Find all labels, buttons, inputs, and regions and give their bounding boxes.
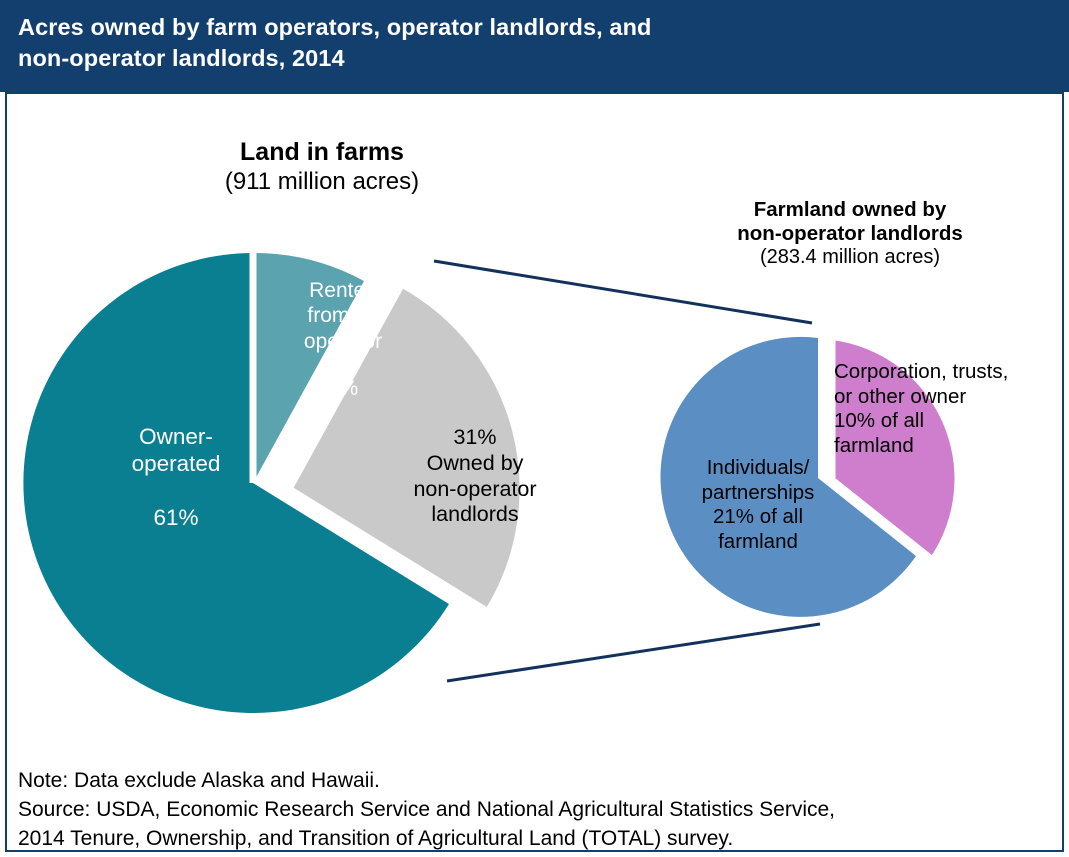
slice-label-rented-from-operator: Rented from an operator 8% bbox=[288, 253, 398, 426]
slice-label-corporation-trusts: Corporation, trusts, or other owner 10% … bbox=[834, 360, 1044, 458]
slice-label-rented-pct: 8% bbox=[288, 376, 398, 401]
right-pie-heading: Farmland owned by non-operator landlords… bbox=[672, 198, 1028, 270]
left-pie-heading-sub: (911 million acres) bbox=[132, 168, 512, 196]
left-pie-heading-main: Land in farms bbox=[132, 138, 512, 168]
chart-title: Acres owned by farm operators, operator … bbox=[18, 12, 958, 74]
left-pie-heading: Land in farms (911 million acres) bbox=[132, 138, 512, 196]
right-pie-heading-sub: (283.4 million acres) bbox=[672, 246, 1028, 270]
right-pie-heading-main: Farmland owned by non-operator landlords bbox=[672, 198, 1028, 246]
slice-label-individuals-partnerships: Individuals/ partnerships 21% of all far… bbox=[668, 456, 848, 554]
slice-label-owner-operated: Owner- operated 61% bbox=[86, 423, 266, 531]
chart-figure: Acres owned by farm operators, operator … bbox=[0, 0, 1069, 857]
slice-label-rented-name: Rented from an operator bbox=[304, 279, 382, 352]
slice-label-owned-by-non-operator: 31% Owned by non-operator landlords bbox=[380, 425, 570, 528]
chart-title-band: Acres owned by farm operators, operator … bbox=[0, 0, 1069, 92]
chart-footnote: Note: Data exclude Alaska and Hawaii. So… bbox=[18, 766, 1038, 853]
